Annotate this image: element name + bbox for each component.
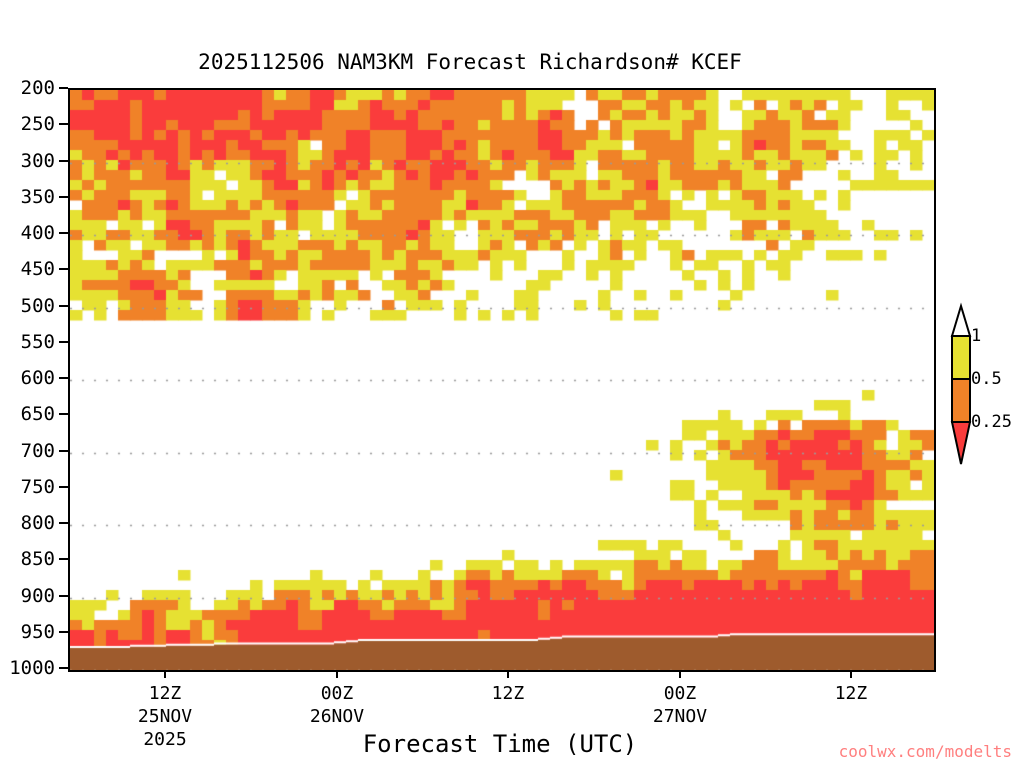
colorbar-label-0-5: 0.5 bbox=[971, 369, 1002, 389]
y-axis-tick bbox=[59, 160, 68, 162]
x-axis-label: 12Z bbox=[835, 682, 868, 705]
x-axis-tick bbox=[850, 670, 852, 678]
x-axis-label-line: 26NOV bbox=[310, 705, 364, 728]
y-axis-tick bbox=[59, 522, 68, 524]
y-axis-tick bbox=[59, 232, 68, 234]
watermark: coolwx.com/modelts bbox=[839, 742, 1012, 761]
y-axis-tick bbox=[59, 87, 68, 89]
x-axis-label-line: 12Z bbox=[492, 682, 525, 705]
colorbar-over-arrow bbox=[952, 306, 970, 336]
y-axis-tick bbox=[59, 123, 68, 125]
x-axis-label-line: 25NOV bbox=[138, 705, 192, 728]
y-axis-tick bbox=[59, 196, 68, 198]
x-axis-tick bbox=[679, 670, 681, 678]
x-axis-label: 00Z26NOV bbox=[310, 682, 364, 728]
y-axis-label: 200 bbox=[0, 77, 55, 99]
y-axis-tick bbox=[59, 268, 68, 270]
y-axis-tick bbox=[59, 631, 68, 633]
y-axis-tick bbox=[59, 667, 68, 669]
x-axis-tick bbox=[507, 670, 509, 678]
y-axis-label: 650 bbox=[0, 403, 55, 425]
y-axis-label: 400 bbox=[0, 222, 55, 244]
x-axis-title: Forecast Time (UTC) bbox=[68, 730, 932, 758]
y-axis-tick bbox=[59, 305, 68, 307]
chart-title: 2025112506 NAM3KM Forecast Richardson# K… bbox=[0, 50, 940, 74]
y-axis-label: 450 bbox=[0, 258, 55, 280]
y-axis-label: 300 bbox=[0, 150, 55, 172]
colorbar-band-yellow bbox=[952, 336, 970, 379]
x-axis-label-line: 12Z bbox=[138, 682, 192, 705]
colorbar-under-arrow bbox=[952, 422, 970, 464]
y-axis-label: 250 bbox=[0, 113, 55, 135]
y-axis-tick bbox=[59, 413, 68, 415]
x-axis-tick bbox=[336, 670, 338, 678]
colorbar-legend: 1 0.5 0.25 bbox=[938, 292, 1024, 472]
chart-container: 2025112506 NAM3KM Forecast Richardson# K… bbox=[0, 0, 1024, 768]
x-axis-label-line: 27NOV bbox=[653, 705, 707, 728]
y-axis-label: 500 bbox=[0, 295, 55, 317]
y-axis-label: 750 bbox=[0, 476, 55, 498]
x-axis-label: 12Z bbox=[492, 682, 525, 705]
y-axis-label: 900 bbox=[0, 585, 55, 607]
y-axis-tick bbox=[59, 450, 68, 452]
x-axis-tick bbox=[164, 670, 166, 678]
y-axis-tick bbox=[59, 595, 68, 597]
y-axis-label: 1000 bbox=[0, 657, 55, 679]
colorbar-label-1: 1 bbox=[971, 326, 981, 346]
plot-area bbox=[68, 88, 936, 672]
y-axis-label: 550 bbox=[0, 331, 55, 353]
x-axis-label: 00Z27NOV bbox=[653, 682, 707, 728]
x-axis-label-line: 00Z bbox=[310, 682, 364, 705]
colorbar-band-orange bbox=[952, 379, 970, 422]
y-axis-label: 800 bbox=[0, 512, 55, 534]
y-axis-tick bbox=[59, 558, 68, 560]
y-axis-label: 600 bbox=[0, 367, 55, 389]
y-axis-tick bbox=[59, 341, 68, 343]
y-axis-label: 350 bbox=[0, 186, 55, 208]
y-axis-tick bbox=[59, 377, 68, 379]
x-axis-label-line: 00Z bbox=[653, 682, 707, 705]
y-axis-label: 950 bbox=[0, 621, 55, 643]
y-axis-label: 850 bbox=[0, 548, 55, 570]
heatmap-canvas bbox=[70, 90, 934, 670]
y-axis-label: 700 bbox=[0, 440, 55, 462]
y-axis-tick bbox=[59, 486, 68, 488]
colorbar-label-0-25: 0.25 bbox=[971, 412, 1012, 432]
x-axis-label-line: 12Z bbox=[835, 682, 868, 705]
